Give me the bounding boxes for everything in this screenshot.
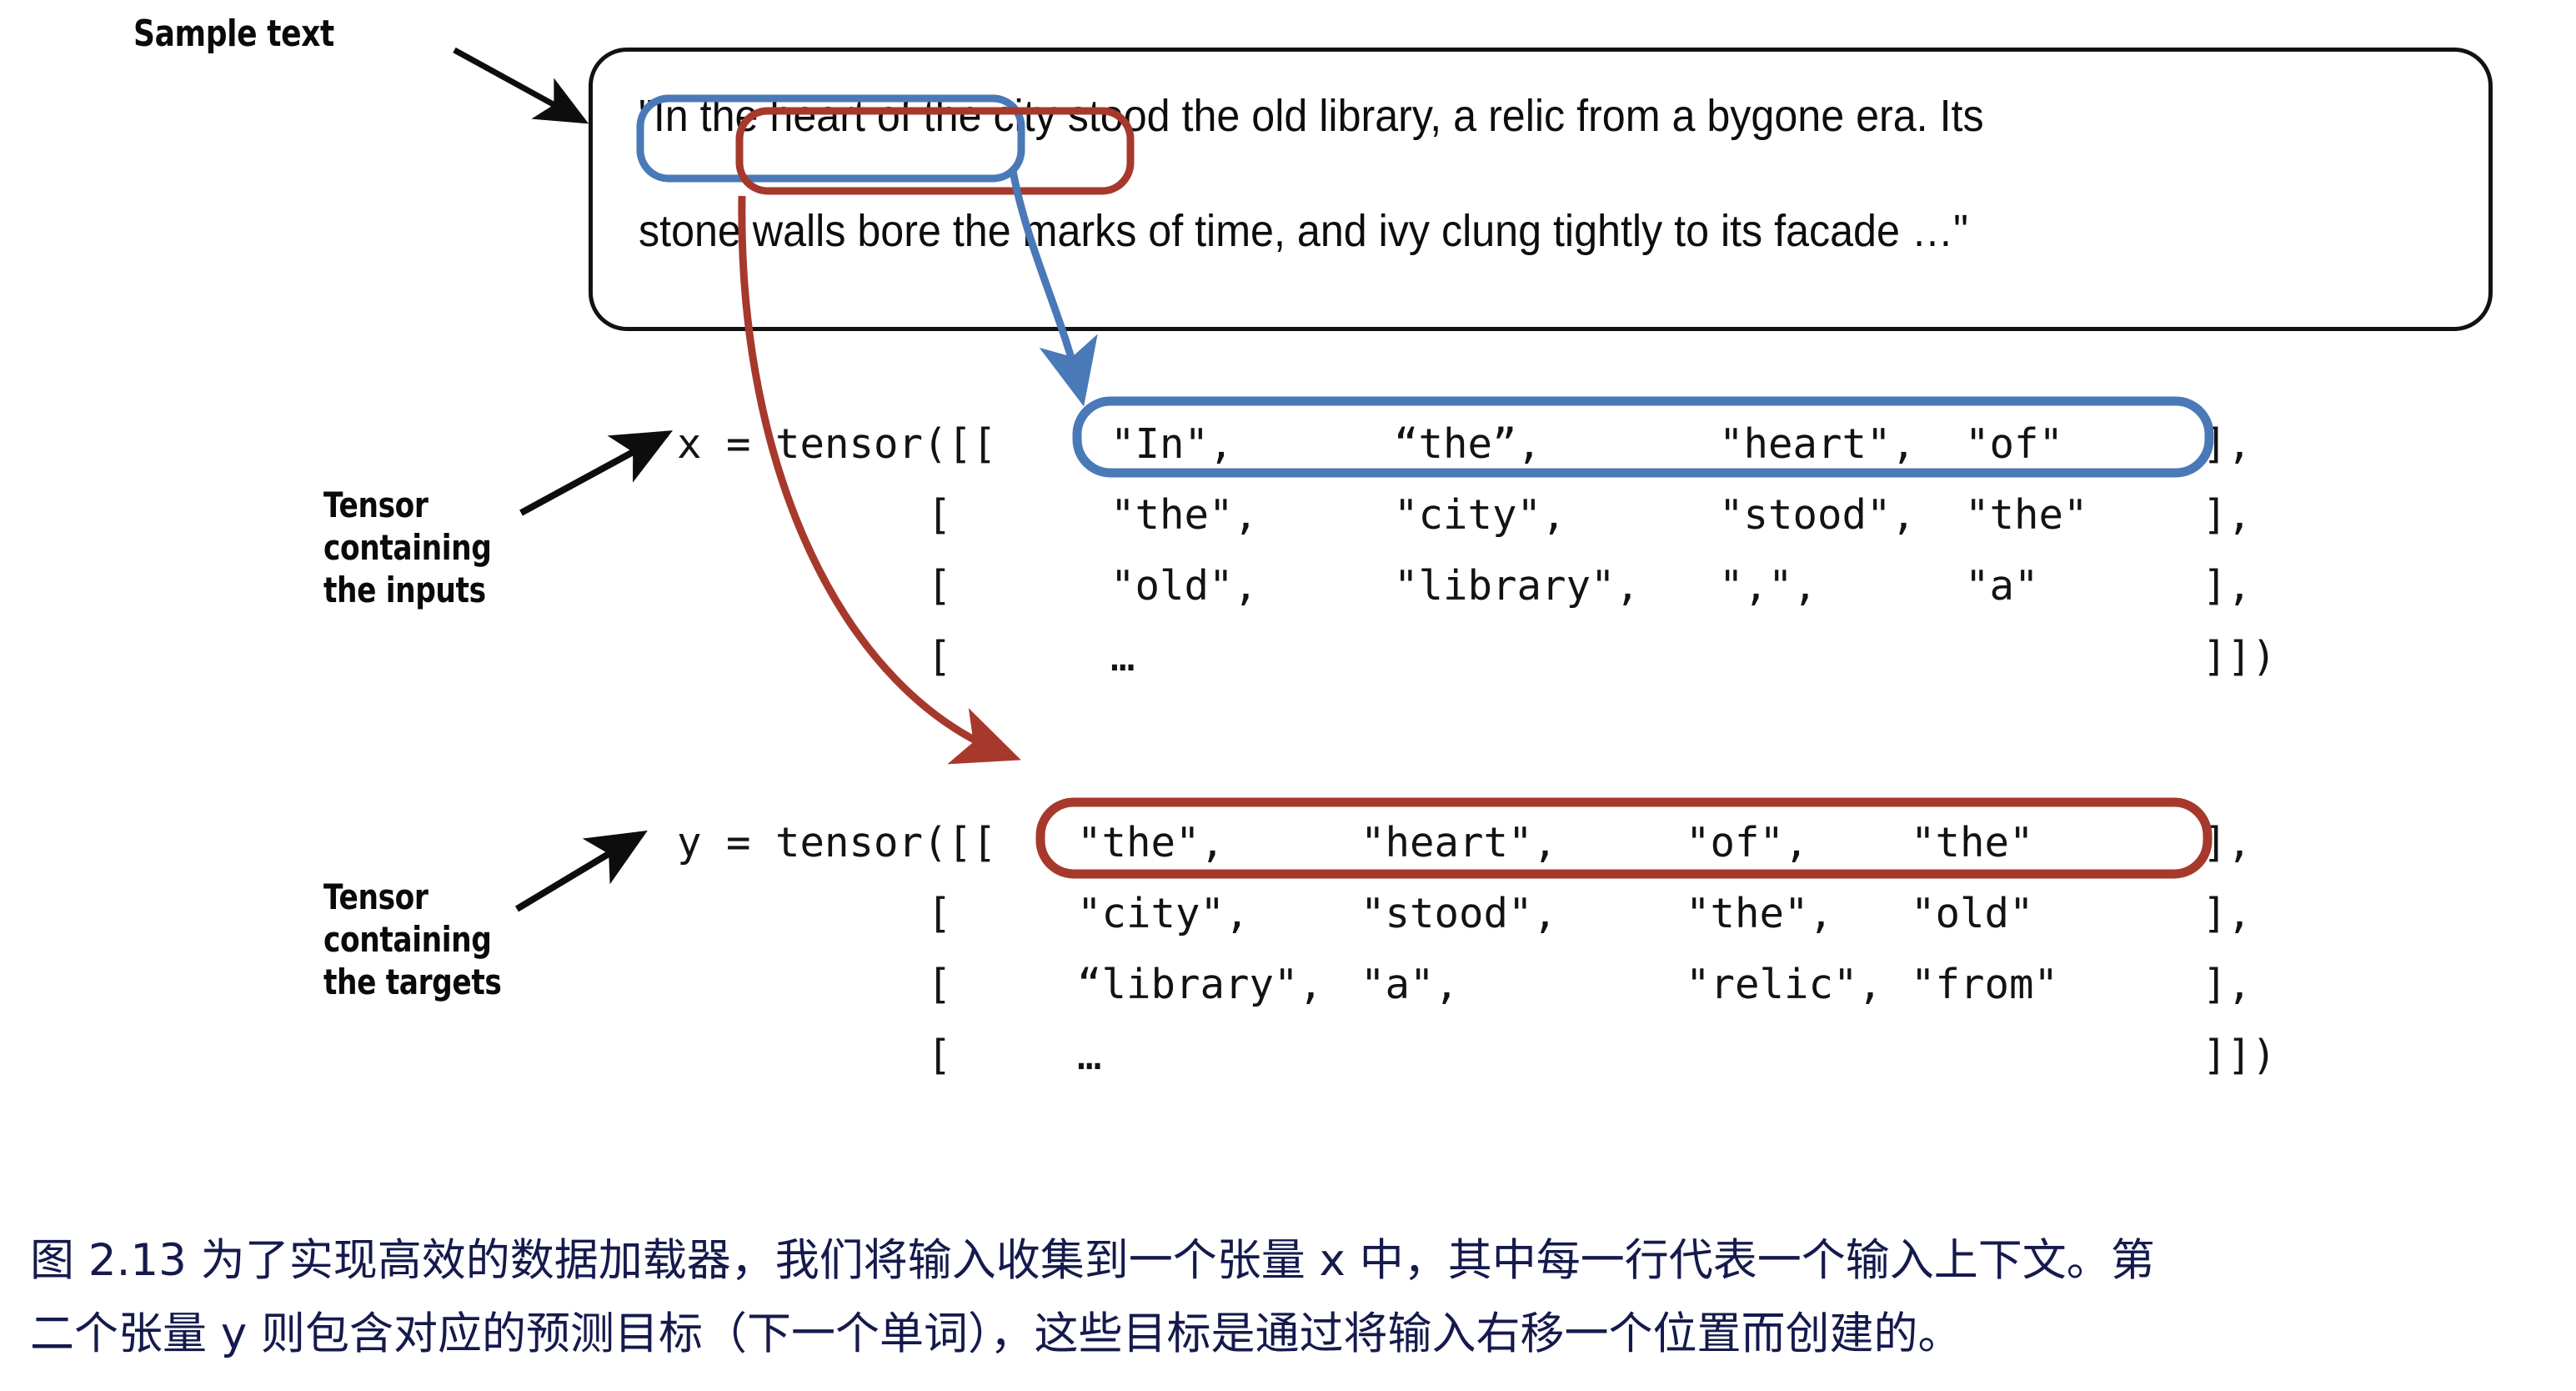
tensor-cell: "heart", [1361, 807, 1557, 878]
tensor-cell: "stood", [1361, 878, 1557, 949]
tensor-cell: "old", [1110, 550, 1258, 621]
tensor-prefix: x = tensor([[ [677, 409, 997, 480]
tensor-prefix: y = tensor([[ [677, 807, 997, 878]
tensor-close-bracket: ], [2203, 550, 2252, 621]
tensor-cell: "city", [1394, 480, 1566, 550]
sample-text-arrow [454, 50, 584, 121]
sample-text-line-2: stone walls bore the marks of time, and … [639, 205, 1968, 257]
tensor-open-bracket: [ [927, 1020, 952, 1091]
tensor-open-bracket: [ [927, 621, 952, 692]
tensor-cell: "the" [1965, 480, 2088, 550]
tensor-cell: "the" [1911, 807, 2034, 878]
tensor-cell: … [1110, 621, 1135, 692]
tensor-cell: "of", [1686, 807, 1809, 878]
tensor-cell: "city", [1077, 878, 1250, 949]
tensor-close-bracket: ], [2203, 480, 2252, 550]
tensor-cell: ",", [1719, 550, 1817, 621]
tensor-cell: "of" [1965, 409, 2063, 480]
tensor-cell: “library", [1077, 949, 1323, 1020]
figure-caption: 图 2.13 为了实现高效的数据加载器，我们将输入收集到一个张量 x 中，其中每… [30, 1224, 2548, 1371]
figure-canvas: Sample text "In the heart of the city st… [0, 0, 2576, 1391]
tensor-cell: "the", [1686, 878, 1833, 949]
tensor-open-bracket: [ [927, 550, 952, 621]
tensor-inputs-label: Tensor containing the inputs [323, 484, 492, 612]
sample-text-line-1: "In the heart of the city stood the old … [639, 90, 1984, 142]
tensor-close-bracket: ]]) [2203, 621, 2277, 692]
tensor-cell: … [1077, 1020, 1102, 1091]
targets-label-arrow [517, 834, 642, 909]
tensor-cell: "a", [1361, 949, 1459, 1020]
tensor-cell: "the", [1077, 807, 1225, 878]
tensor-close-bracket: ], [2203, 807, 2252, 878]
tensor-cell: "library", [1394, 550, 1640, 621]
caption-line-1: 图 2.13 为了实现高效的数据加载器，我们将输入收集到一个张量 x 中，其中每… [30, 1224, 2548, 1298]
tensor-targets-label: Tensor containing the targets [323, 876, 501, 1004]
tensor-cell: "heart", [1719, 409, 1916, 480]
tensor-close-bracket: ]]) [2203, 1020, 2277, 1091]
tensor-cell: "the", [1110, 480, 1258, 550]
tensor-cell: "In", [1110, 409, 1234, 480]
tensor-cell: "from" [1911, 949, 2058, 1020]
tensor-cell: "stood", [1719, 480, 1916, 550]
tensor-cell: "a" [1965, 550, 2039, 621]
tensor-close-bracket: ], [2203, 949, 2252, 1020]
tensor-open-bracket: [ [927, 480, 952, 550]
tensor-close-bracket: ], [2203, 409, 2252, 480]
inputs-label-arrow [521, 434, 667, 513]
sample-text-label: Sample text [133, 12, 334, 57]
tensor-close-bracket: ], [2203, 878, 2252, 949]
tensor-open-bracket: [ [927, 949, 952, 1020]
tensor-cell: “the”, [1394, 409, 1541, 480]
tensor-open-bracket: [ [927, 878, 952, 949]
tensor-cell: "relic", [1686, 949, 1882, 1020]
caption-line-2: 二个张量 y 则包含对应的预测目标（下一个单词），这些目标是通过将输入右移一个位… [30, 1298, 2548, 1371]
tensor-cell: "old" [1911, 878, 2034, 949]
